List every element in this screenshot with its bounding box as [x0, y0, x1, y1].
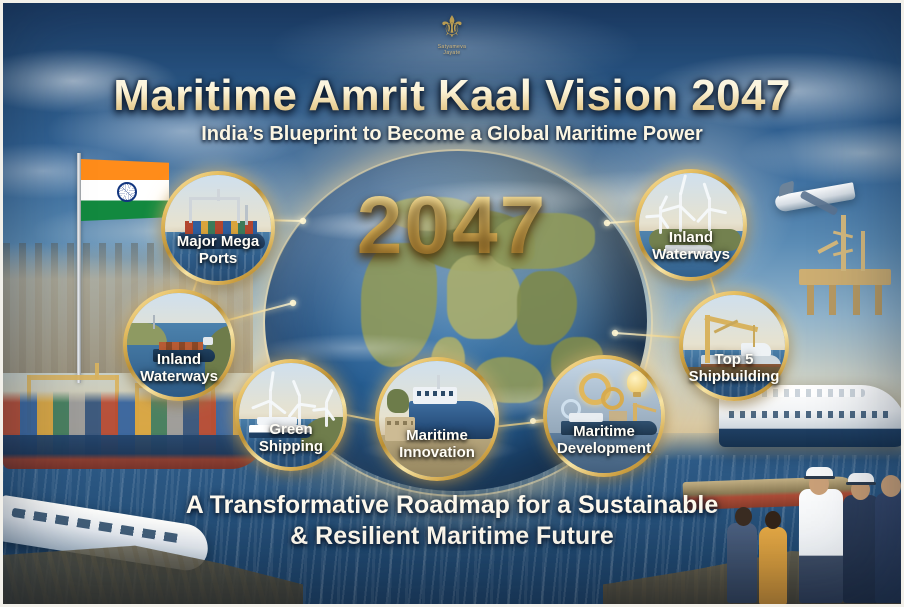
poster-tagline: A Transformative Roadmap for a Sustainab… [3, 490, 901, 552]
lightbulb-icon [627, 371, 647, 393]
node-top-5-shipbuilding[interactable]: Top 5 Shipbuilding [679, 291, 789, 401]
node-maritime-innovation[interactable]: Maritime Innovation [375, 357, 499, 481]
gear-icon [601, 387, 624, 410]
cruise-ship-windows [729, 411, 893, 418]
poster-title: Maritime Amrit Kaal Vision 2047 [3, 71, 901, 121]
vision-year-2047: 2047 [3, 179, 901, 273]
node-maritime-development[interactable]: Maritime Development [543, 355, 665, 477]
emblem-motto: Satyameva Jayate [429, 44, 475, 56]
gantry-crane-leg [115, 375, 119, 433]
gantry-crane [27, 375, 31, 433]
maritime-vision-2047-poster: 2047 [0, 0, 904, 607]
node-inland-waterways-left[interactable]: Inland Waterways [123, 289, 235, 401]
node-green-shipping[interactable]: Green Shipping [235, 359, 347, 471]
container-ship-hull [3, 435, 265, 469]
node-image-river-barge [127, 293, 231, 397]
gantry-crane-mast [95, 363, 99, 379]
rocky-shoreline [3, 543, 303, 607]
poster-subtitle: India’s Blueprint to Become a Global Mar… [3, 123, 901, 146]
tagline-line-1: A Transformative Roadmap for a Sustainab… [3, 490, 901, 521]
lion-capital-icon: ⚜ [429, 13, 475, 43]
tagline-line-2: & Resilient Maritime Future [3, 521, 901, 552]
node-image-research-vessel [379, 361, 495, 477]
node-image-wind-turbines-ferry [239, 363, 343, 467]
gantry-crane-boom [27, 375, 119, 380]
node-image-shipyard-crane [683, 295, 785, 397]
node-image-gears-and-lightbulb [547, 359, 661, 473]
national-emblem: ⚜ Satyameva Jayate [429, 13, 475, 65]
